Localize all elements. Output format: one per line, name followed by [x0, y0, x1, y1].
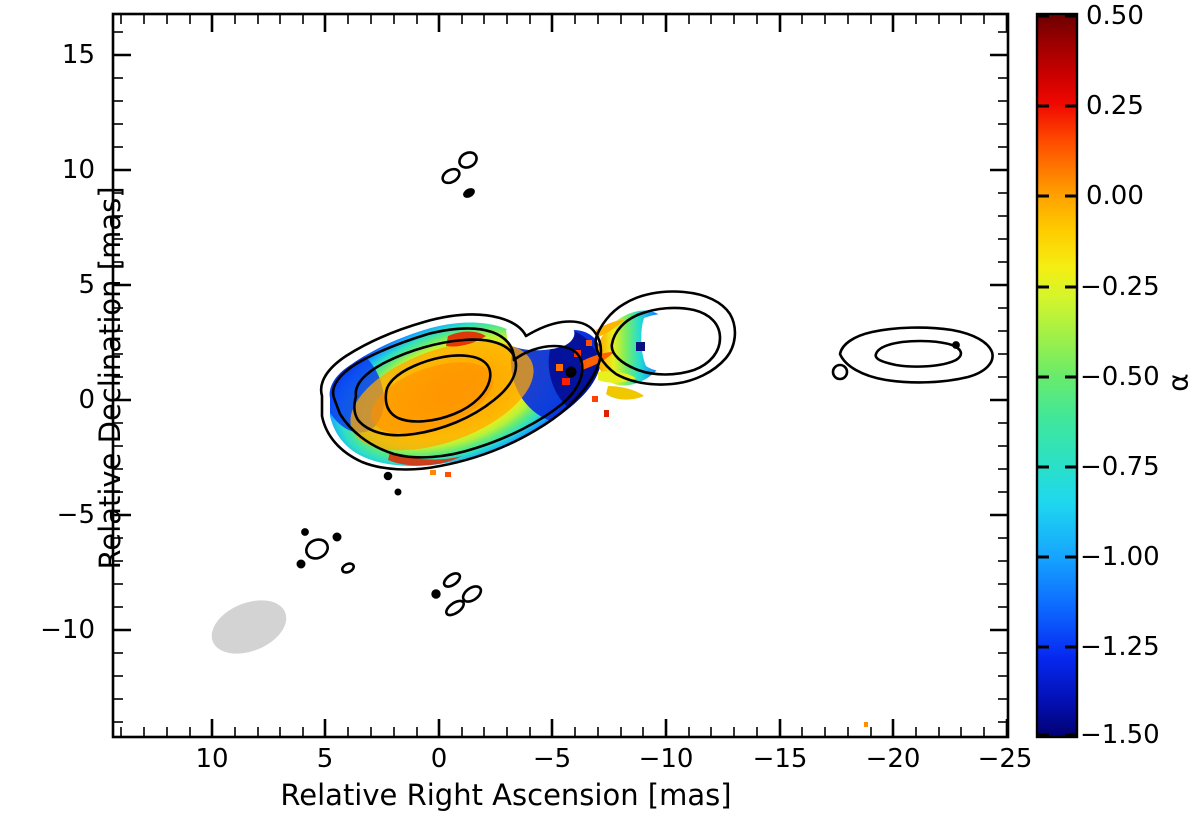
y-tick-label-0: 0: [40, 385, 95, 415]
x-tick-label-10: 10: [195, 744, 228, 774]
x-tick-label-minus25: −25: [978, 744, 1033, 774]
y-tick-label-10: 10: [40, 155, 95, 185]
y-tick-label-minus10: −10: [30, 615, 95, 645]
x-tick-label-minus20: −20: [866, 744, 921, 774]
x-tick-label-minus15: −15: [753, 744, 808, 774]
colorbar-tick-label-0.00: 0.00: [1086, 181, 1144, 211]
spectral-index-map-figure: Relative Declination [mas] Relative Righ…: [0, 0, 1200, 818]
plot-canvas: [0, 0, 1200, 818]
colorbar-tick-label-minus1.50: −1.50: [1080, 720, 1160, 750]
x-tick-label-5: 5: [317, 744, 334, 774]
colorbar-tick-label-minus1.25: −1.25: [1080, 632, 1160, 662]
colorbar-tick-label-minus0.50: −0.50: [1080, 362, 1160, 392]
colorbar-tick-label-minus0.25: −0.25: [1080, 272, 1160, 302]
restoring-beam-ellipse: [204, 590, 294, 664]
x-tick-label-minus10: −10: [639, 744, 694, 774]
x-tick-label-0: 0: [431, 744, 448, 774]
colorbar-tick-label-minus0.75: −0.75: [1080, 452, 1160, 482]
colorbar-tick-label-0.25: 0.25: [1086, 91, 1144, 121]
y-tick-label-5: 5: [40, 270, 95, 300]
x-tick-label-minus5: −5: [533, 744, 571, 774]
y-tick-label-minus5: −5: [30, 500, 95, 530]
colorbar-tick-label-minus1.00: −1.00: [1080, 542, 1160, 572]
y-tick-label-15: 15: [40, 40, 95, 70]
colorbar-tick-label-0.50: 0.50: [1086, 1, 1144, 31]
data-layer: [204, 149, 993, 727]
